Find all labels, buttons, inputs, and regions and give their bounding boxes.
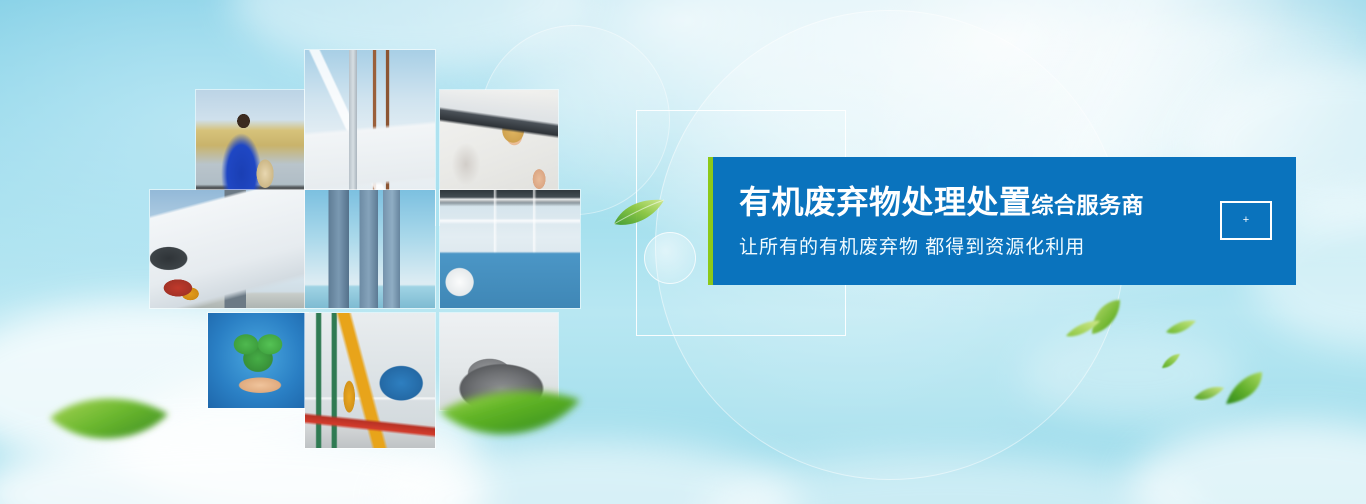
leaf-icon — [1160, 352, 1182, 372]
photo-tile-leaf-heart-in-hand — [208, 313, 308, 408]
photo-office-towers-image — [305, 190, 435, 308]
leaf-icon — [1222, 370, 1266, 406]
banner-headline: 有机废弃物处理处置综合服务商 — [739, 186, 1296, 218]
banner-headline-main: 有机废弃物处理处置 — [739, 184, 1032, 220]
photo-tile-process-pipes — [440, 190, 580, 308]
leaf-icon — [44, 388, 174, 462]
photo-factory-building-image — [150, 190, 305, 308]
leaf-icon — [612, 196, 666, 230]
photo-process-pipes-image — [440, 190, 580, 308]
photo-workshop-machinery-image — [305, 313, 435, 448]
banner-headline-sub: 综合服务商 — [1032, 193, 1145, 218]
leaf-icon — [1192, 384, 1226, 404]
hero-banner-image: 有机废弃物处理处置综合服务商 让所有的有机废弃物 都得到资源化利用 + — [0, 0, 1366, 504]
banner-subline: 让所有的有机废弃物 都得到资源化利用 — [739, 232, 1296, 259]
photo-tile-factory-building — [150, 190, 305, 308]
decorative-small-circle — [644, 232, 696, 284]
leaf-icon — [1064, 318, 1102, 340]
photo-tile-office-towers — [305, 190, 435, 308]
photo-tile-workshop-machinery — [305, 313, 435, 448]
photo-leaf-heart-image — [208, 313, 308, 408]
plus-icon: + — [1243, 215, 1249, 226]
headline-banner: 有机废弃物处理处置综合服务商 让所有的有机废弃物 都得到资源化利用 + — [708, 157, 1296, 285]
banner-content: 有机废弃物处理处置综合服务商 让所有的有机废弃物 都得到资源化利用 + — [713, 157, 1296, 285]
expand-plus-button[interactable]: + — [1220, 201, 1272, 240]
leaf-icon — [436, 378, 586, 458]
leaf-icon — [1164, 318, 1198, 338]
